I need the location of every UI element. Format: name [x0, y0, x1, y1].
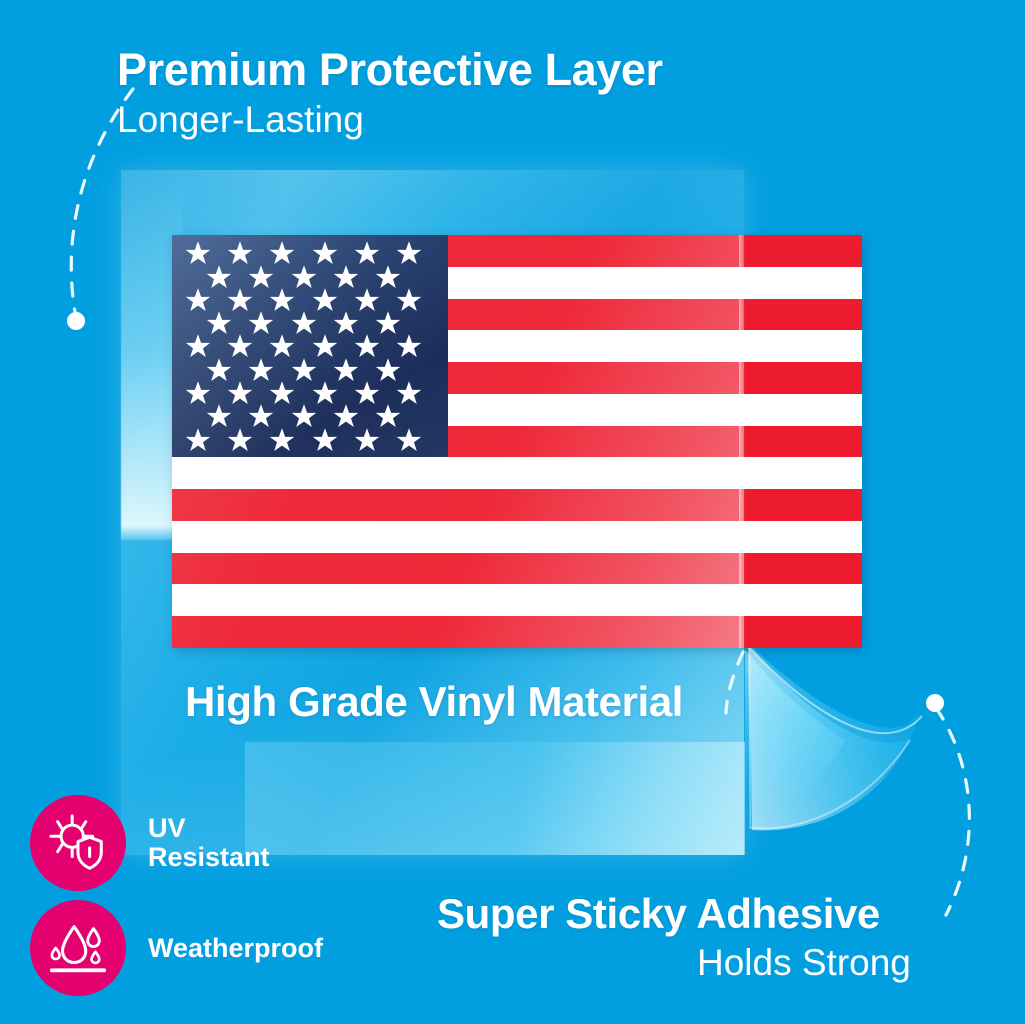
uv-resistant-badge — [30, 795, 126, 891]
flag-star — [396, 427, 422, 453]
flag-star — [354, 333, 380, 359]
flag-star — [185, 240, 211, 266]
flag-stripe — [172, 553, 862, 585]
flag-star — [312, 380, 338, 406]
feature-weatherproof: Weatherproof — [30, 900, 323, 996]
flag-star — [354, 380, 380, 406]
heading-super-sticky-adhesive: Super Sticky Adhesive — [437, 890, 880, 938]
callout-dot-left — [67, 312, 85, 330]
flag-star — [185, 427, 211, 453]
flag-star — [354, 287, 380, 313]
flag-star — [312, 240, 338, 266]
flag-star — [185, 380, 211, 406]
flag-star — [206, 357, 232, 383]
flag-star — [375, 357, 401, 383]
product-infographic: Premium Protective Layer Longer-Lasting … — [0, 0, 1025, 1024]
flag-star — [291, 357, 317, 383]
flag-star — [396, 333, 422, 359]
heading-premium-protective-layer: Premium Protective Layer — [117, 44, 663, 96]
flag-star — [354, 427, 380, 453]
united-states-flag — [172, 235, 862, 648]
weatherproof-badge — [30, 900, 126, 996]
flag-star — [312, 333, 338, 359]
flag-star — [312, 427, 338, 453]
flag-star — [185, 287, 211, 313]
flag-star — [333, 403, 359, 429]
flag-star — [206, 264, 232, 290]
flag-star — [227, 240, 253, 266]
flag-star — [396, 380, 422, 406]
flag-stripe — [172, 616, 862, 648]
flag-star — [375, 310, 401, 336]
feature-label-uv-resistant: UV Resistant — [148, 814, 270, 872]
flag-star — [227, 427, 253, 453]
feature-uv-resistant: UV Resistant — [30, 795, 270, 891]
flag-star — [375, 403, 401, 429]
flag-star — [185, 333, 211, 359]
subheading-holds-strong: Holds Strong — [697, 942, 911, 984]
subheading-longer-lasting: Longer-Lasting — [117, 99, 364, 141]
flag-star — [354, 240, 380, 266]
flag-star — [269, 333, 295, 359]
flag-star — [227, 380, 253, 406]
sun-shield-icon — [47, 812, 109, 874]
flag-star — [269, 427, 295, 453]
water-droplets-icon — [47, 917, 109, 979]
flag-star — [291, 310, 317, 336]
flag-star — [269, 380, 295, 406]
flag-star — [291, 403, 317, 429]
flag-star — [333, 264, 359, 290]
feature-label-weatherproof: Weatherproof — [148, 934, 323, 963]
flag-star — [312, 287, 338, 313]
flag-star — [248, 357, 274, 383]
flag-star — [248, 264, 274, 290]
flag-star — [291, 264, 317, 290]
flag-star — [396, 240, 422, 266]
flag-star — [206, 310, 232, 336]
flag-star — [227, 287, 253, 313]
flag-stripe — [172, 489, 862, 521]
flag-star — [396, 287, 422, 313]
flag-canton — [172, 235, 448, 457]
flag-star — [269, 240, 295, 266]
heading-high-grade-vinyl-material: High Grade Vinyl Material — [185, 678, 683, 726]
flag-star — [333, 310, 359, 336]
flag-star — [333, 357, 359, 383]
flag-star — [248, 403, 274, 429]
flag-star — [206, 403, 232, 429]
flag-star — [375, 264, 401, 290]
flag-star — [248, 310, 274, 336]
flag-star — [227, 333, 253, 359]
flag-star — [269, 287, 295, 313]
